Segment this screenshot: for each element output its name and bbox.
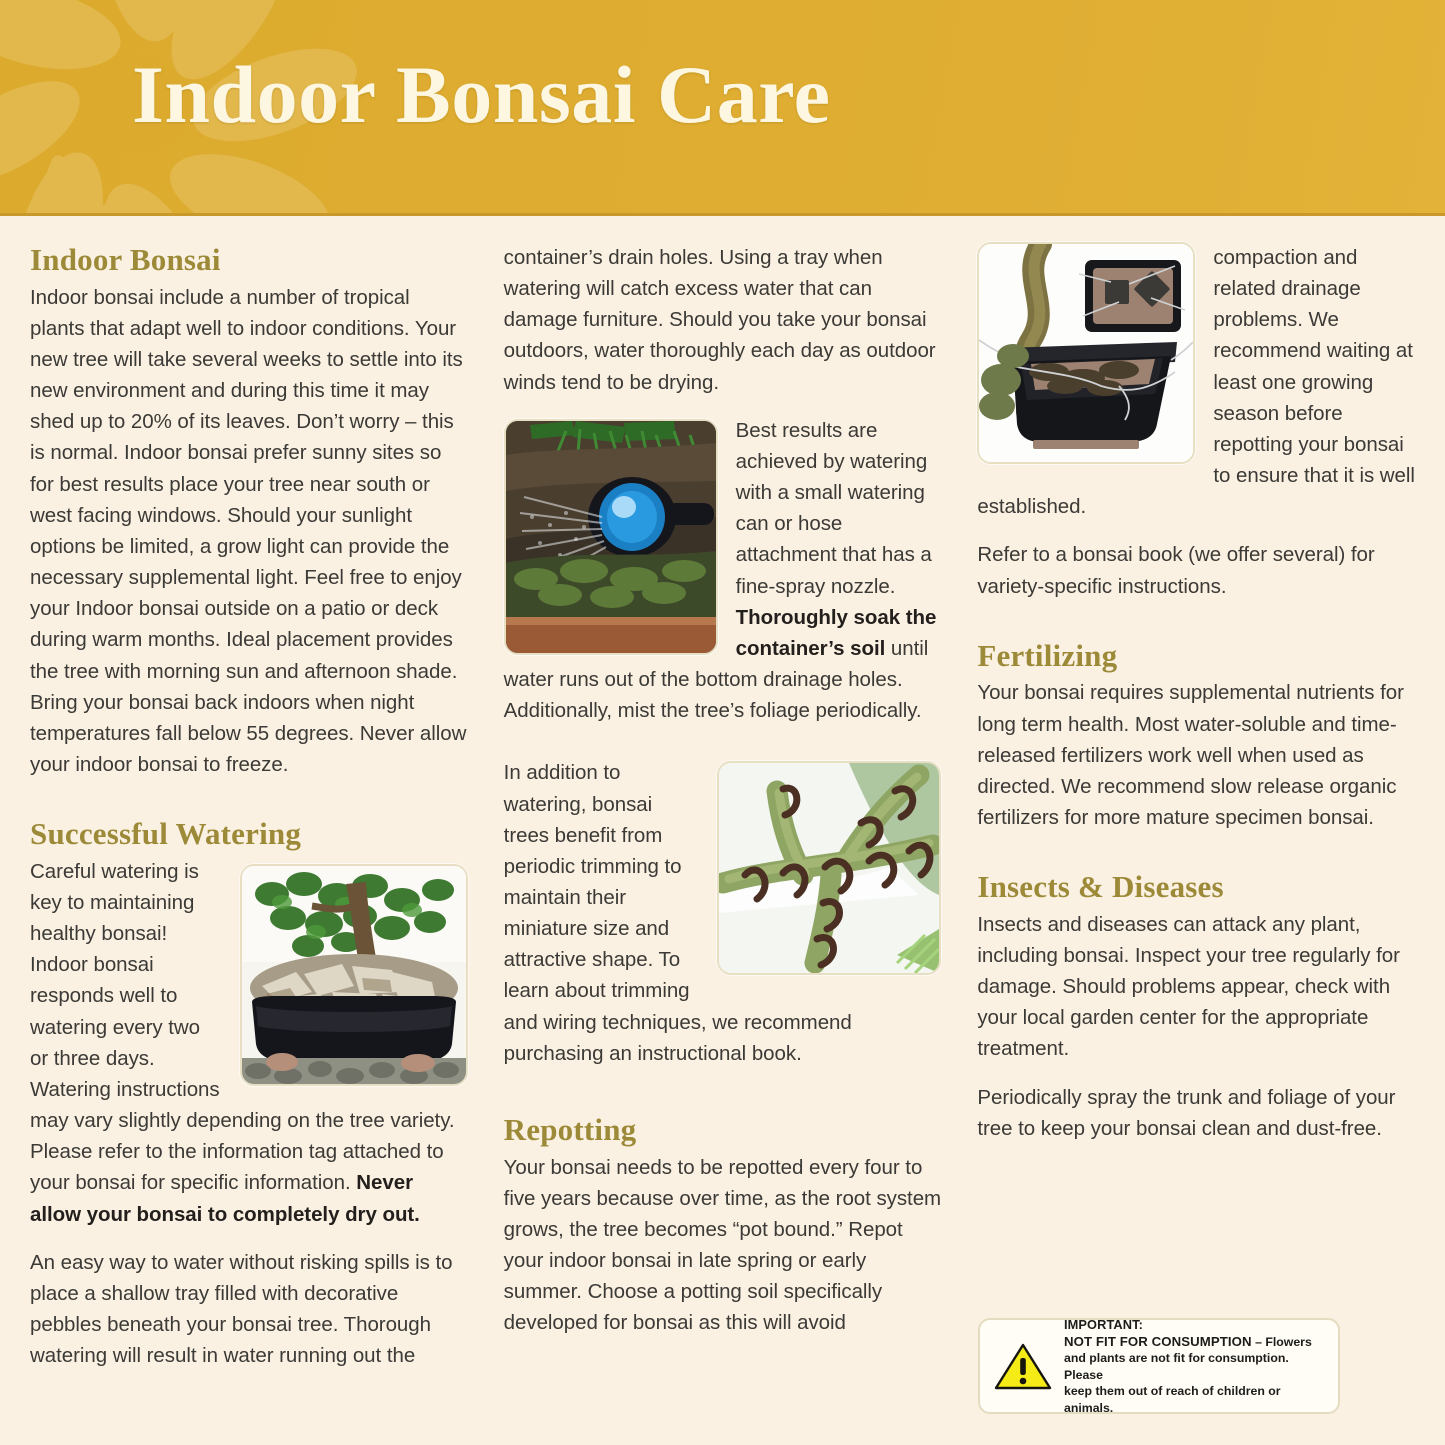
paragraph-spray-trunk: Periodically spray the trunk and foliage… [977,1082,1415,1144]
paragraph-watering-tray: An easy way to water without risking spi… [30,1247,468,1372]
warning-line-2-rest: – Flowers [1252,1335,1312,1349]
column-middle: container’s drain holes. Using a tray wh… [504,242,942,1338]
repotting-pot-with-mesh-screens-photo [977,242,1195,464]
section-heading-insects-diseases: Insects & Diseases [977,869,1415,905]
important-warning-box: IMPORTANT: NOT FIT FOR CONSUMPTION – Flo… [978,1318,1340,1414]
care-guide-content: Indoor Bonsai Indoor bonsai include a nu… [0,216,1445,1388]
warning-triangle-icon [994,1341,1052,1391]
wired-bonsai-branch-photo [717,761,941,975]
paragraph-fertilizing: Your bonsai requires supplemental nutrie… [977,677,1415,833]
best-results-lead: Best results are achieved by watering wi… [736,419,932,598]
warning-line-1: IMPORTANT: [1064,1316,1326,1333]
page-header: Indoor Bonsai Care [0,0,1445,216]
column-left: Indoor Bonsai Indoor bonsai include a nu… [30,242,468,1388]
warning-text: IMPORTANT: NOT FIT FOR CONSUMPTION – Flo… [1064,1316,1326,1417]
section-heading-successful-watering: Successful Watering [30,816,468,852]
warning-line-2-bold: NOT FIT FOR CONSUMPTION [1064,1334,1252,1349]
page-title: Indoor Bonsai Care [132,48,831,142]
section-heading-fertilizing: Fertilizing [977,638,1415,674]
section-heading-indoor-bonsai: Indoor Bonsai [30,242,468,278]
paragraph-bonsai-book: Refer to a bonsai book (we offer several… [977,539,1415,601]
section-heading-repotting: Repotting [504,1112,942,1148]
jade-bonsai-in-pot-photo [240,864,468,1086]
paragraph-drain-holes-continued: container’s drain holes. Using a tray wh… [504,242,942,398]
paragraph-repotting: Your bonsai needs to be repotted every f… [504,1152,942,1339]
paragraph-indoor-bonsai: Indoor bonsai include a number of tropic… [30,282,468,781]
warning-line-4: keep them out of reach of children or an… [1064,1383,1326,1416]
column-right: compaction and related drainage problems… [977,242,1415,1161]
hose-spray-nozzle-watering-photo [504,419,718,655]
paragraph-insects-diseases: Insects and diseases can attack any plan… [977,909,1415,1065]
warning-line-3: and plants are not fit for consumption. … [1064,1350,1326,1383]
